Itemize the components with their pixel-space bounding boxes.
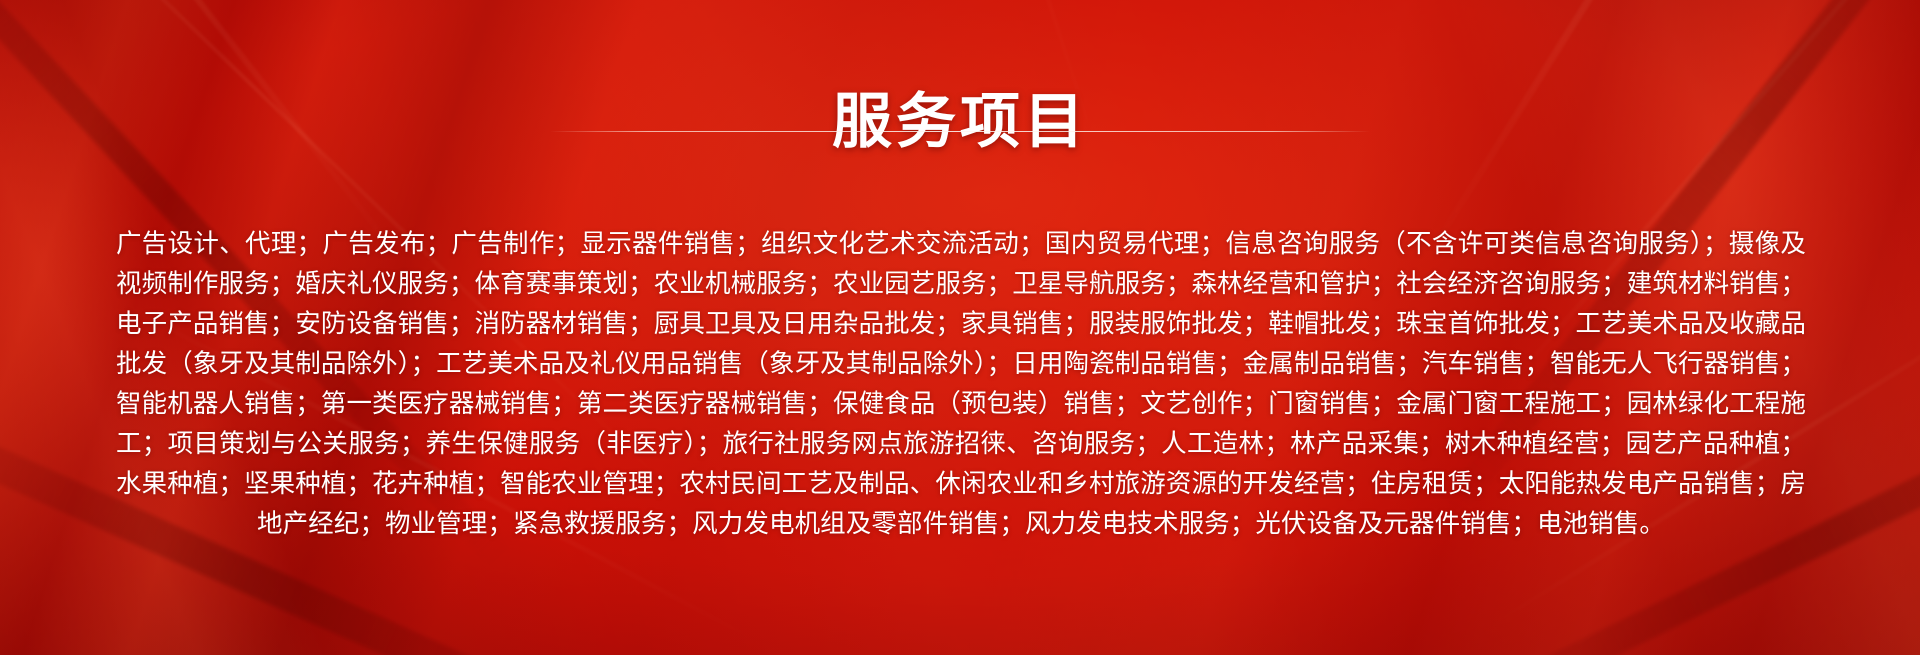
page-title: 服务项目: [0, 87, 1920, 157]
content-container: 服务项目 广告设计、代理；广告发布；广告制作；显示器件销售；组织文化艺术交流活动…: [0, 0, 1920, 655]
title-divider: [550, 131, 1370, 132]
service-items-paragraph: 广告设计、代理；广告发布；广告制作；显示器件销售；组织文化艺术交流活动；国内贸易…: [116, 224, 1806, 544]
service-items-banner: 服务项目 广告设计、代理；广告发布；广告制作；显示器件销售；组织文化艺术交流活动…: [0, 0, 1920, 655]
